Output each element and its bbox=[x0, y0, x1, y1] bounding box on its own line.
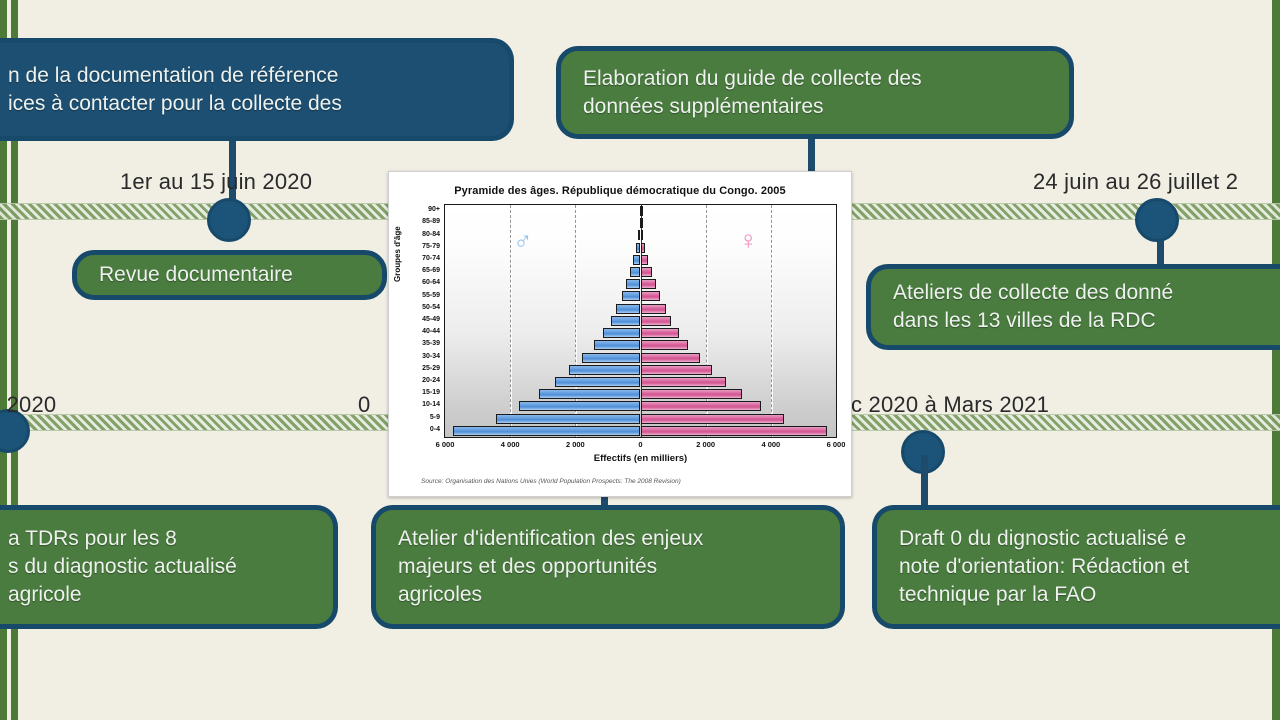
chart-bar-male bbox=[603, 328, 640, 338]
callout-draft-diagnostic-label: Draft 0 du dignostic actualisé e note d'… bbox=[899, 525, 1189, 609]
chart-bar-male bbox=[594, 340, 640, 350]
chart-bar-male bbox=[630, 267, 640, 277]
chart-bar-row bbox=[445, 217, 836, 229]
chart-bar-row bbox=[445, 364, 836, 376]
callout-atelier-enjeux-label: Atelier d'identification des enjeux maje… bbox=[398, 525, 703, 609]
chart-bar-male bbox=[616, 304, 640, 314]
chart-bar-row bbox=[445, 376, 836, 388]
chart-x-tick-label: 6 000 bbox=[436, 440, 455, 449]
chart-bar-row bbox=[445, 229, 836, 241]
date-label-juin-juillet: 24 juin au 26 juillet 2 bbox=[1033, 169, 1238, 195]
chart-bar-row bbox=[445, 327, 836, 339]
date-label-juin: 1er au 15 juin 2020 bbox=[120, 169, 312, 195]
chart-bar-row bbox=[445, 254, 836, 266]
chart-y-tick-label: 20-24 bbox=[396, 377, 440, 384]
chart-y-tick-label: 10-14 bbox=[396, 401, 440, 408]
chart-y-tick-label: 60-64 bbox=[396, 279, 440, 286]
chart-bar-female bbox=[641, 218, 643, 228]
chart-source-note: Source: Organisation des Nations Unies (… bbox=[421, 478, 681, 485]
chart-y-tick-label: 5-9 bbox=[396, 414, 440, 421]
chart-bar-row bbox=[445, 388, 836, 400]
chart-y-tick-label: 50-54 bbox=[396, 304, 440, 311]
chart-y-tick-label: 30-34 bbox=[396, 353, 440, 360]
chart-bar-male bbox=[622, 291, 641, 301]
chart-bar-male bbox=[611, 316, 641, 326]
chart-y-tick-label: 35-39 bbox=[396, 340, 440, 347]
chart-x-tick-label: 2 000 bbox=[696, 440, 715, 449]
chart-bar-male bbox=[496, 414, 641, 424]
timeline-node-1[interactable] bbox=[207, 198, 251, 242]
chart-bar-row bbox=[445, 278, 836, 290]
chart-y-ticks: 90+85-8980-8475-7970-7465-6960-6455-5950… bbox=[394, 204, 440, 438]
chart-bar-row bbox=[445, 303, 836, 315]
chart-bar-male bbox=[626, 279, 640, 289]
chart-bar-female bbox=[641, 291, 661, 301]
chart-title: Pyramide des âges. République démocratiq… bbox=[389, 185, 851, 197]
chart-bar-female bbox=[641, 389, 742, 399]
chart-bar-female bbox=[641, 230, 644, 240]
date-label-left-2020: t 2020 bbox=[0, 392, 56, 418]
chart-bar-row bbox=[445, 425, 836, 437]
chart-bar-row bbox=[445, 290, 836, 302]
chart-y-tick-label: 90+ bbox=[396, 206, 440, 213]
callout-tdrs-diagnostic-label: a TDRs pour les 8 s du diagnostic actual… bbox=[8, 525, 237, 609]
chart-bar-female bbox=[641, 255, 649, 265]
chart-bar-row bbox=[445, 339, 836, 351]
chart-bar-row bbox=[445, 315, 836, 327]
chart-y-tick-label: 55-59 bbox=[396, 292, 440, 299]
chart-x-axis-label: Effectifs (en milliers) bbox=[444, 453, 837, 464]
population-pyramid-chart[interactable]: Pyramide des âges. République démocratiq… bbox=[388, 171, 852, 497]
chart-bar-male bbox=[582, 353, 640, 363]
callout-atelier-enjeux[interactable]: Atelier d'identification des enjeux maje… bbox=[371, 505, 845, 629]
chart-bar-row bbox=[445, 242, 836, 254]
callout-guide-collecte[interactable]: Elaboration du guide de collecte des don… bbox=[556, 46, 1074, 139]
chart-plot-wrap: ♂ ♀ bbox=[444, 204, 837, 438]
chart-y-tick-label: 0-4 bbox=[396, 426, 440, 433]
slide-canvas: n de la documentation de référence ices … bbox=[0, 0, 1280, 720]
chart-x-ticks: 6 0004 0002 00002 0004 0006 000 bbox=[444, 440, 837, 452]
chart-bar-male bbox=[569, 365, 640, 375]
chart-y-tick-label: 85-89 bbox=[396, 218, 440, 225]
chart-y-tick-label: 65-69 bbox=[396, 267, 440, 274]
timeline-node-2[interactable] bbox=[1135, 198, 1179, 242]
chart-y-tick-label: 15-19 bbox=[396, 389, 440, 396]
chart-y-tick-label: 70-74 bbox=[396, 255, 440, 262]
chart-bar-female bbox=[641, 353, 700, 363]
chart-bar-male bbox=[555, 377, 640, 387]
chart-bar-row bbox=[445, 352, 836, 364]
chart-y-tick-label: 45-49 bbox=[396, 316, 440, 323]
chart-bar-row bbox=[445, 413, 836, 425]
chart-bar-female bbox=[641, 316, 672, 326]
chart-bar-row bbox=[445, 400, 836, 412]
chart-bar-female bbox=[641, 340, 688, 350]
callout-tdrs-diagnostic[interactable]: a TDRs pour les 8 s du diagnostic actual… bbox=[0, 505, 338, 629]
callout-documentation-reference-label: n de la documentation de référence ices … bbox=[8, 62, 342, 118]
chart-bar-female bbox=[641, 377, 727, 387]
chart-x-tick-label: 4 000 bbox=[501, 440, 520, 449]
chart-bar-female bbox=[641, 304, 666, 314]
chart-bar-female bbox=[641, 267, 652, 277]
chart-bar-female bbox=[641, 414, 785, 424]
chart-bar-row bbox=[445, 205, 836, 217]
chart-bar-female bbox=[641, 206, 643, 216]
chart-x-tick-label: 2 000 bbox=[566, 440, 585, 449]
chart-bar-male bbox=[453, 426, 640, 436]
chart-bar-male bbox=[539, 389, 641, 399]
date-label-dec-mars: c 2020 à Mars 2021 bbox=[851, 392, 1049, 418]
chart-y-tick-label: 25-29 bbox=[396, 365, 440, 372]
callout-draft-diagnostic[interactable]: Draft 0 du dignostic actualisé e note d'… bbox=[872, 505, 1280, 629]
chart-y-tick-label: 75-79 bbox=[396, 243, 440, 250]
chart-bar-male bbox=[633, 255, 640, 265]
chart-plot-area: ♂ ♀ bbox=[444, 204, 837, 438]
callout-revue-documentaire[interactable]: Revue documentaire bbox=[72, 250, 387, 300]
callout-documentation-reference[interactable]: n de la documentation de référence ices … bbox=[0, 38, 514, 141]
chart-x-tick-label: 0 bbox=[638, 440, 642, 449]
chart-bar-female bbox=[641, 243, 646, 253]
callout-ateliers-collecte[interactable]: Ateliers de collecte des donné dans les … bbox=[866, 264, 1280, 350]
chart-bar-female bbox=[641, 426, 827, 436]
chart-x-tick-label: 6 000 bbox=[827, 440, 846, 449]
chart-bar-female bbox=[641, 328, 679, 338]
chart-bar-male bbox=[519, 401, 640, 411]
callout-revue-documentaire-label: Revue documentaire bbox=[99, 261, 293, 289]
chart-bar-female bbox=[641, 401, 761, 411]
date-label-mid-hidden: 0 bbox=[358, 392, 370, 418]
chart-bar-female bbox=[641, 365, 713, 375]
callout-ateliers-collecte-label: Ateliers de collecte des donné dans les … bbox=[893, 279, 1173, 335]
chart-bar-female bbox=[641, 279, 656, 289]
chart-bar-row bbox=[445, 266, 836, 278]
callout-guide-collecte-label: Elaboration du guide de collecte des don… bbox=[583, 65, 922, 121]
chart-x-tick-label: 4 000 bbox=[761, 440, 780, 449]
chart-y-tick-label: 80-84 bbox=[396, 231, 440, 238]
chart-y-tick-label: 40-44 bbox=[396, 328, 440, 335]
